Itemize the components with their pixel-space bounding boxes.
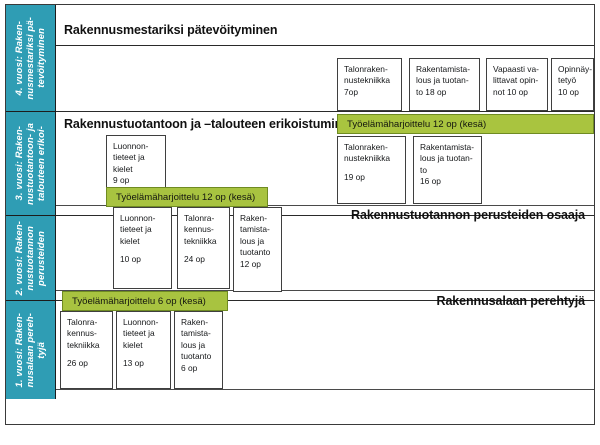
- year-column-1-line-3: tyjä: [36, 342, 47, 359]
- row-separator-1: [56, 45, 594, 46]
- course-box[interactable]: Vapaasti va- littavat opin- not 10 op: [486, 58, 548, 111]
- year-column-2: 2. vuosi: Raken- nustuotannon perusteide…: [6, 216, 56, 301]
- course-box[interactable]: Luonnon- tieteet ja kielet 13 op: [116, 311, 171, 389]
- year-column-2-line-1: 2. vuosi: Raken-: [14, 221, 25, 295]
- internship-bar-year4[interactable]: Työelämäharjoittelu 12 op (kesä): [337, 114, 594, 134]
- course-box[interactable]: Luonnon- tieteet ja kielet 9 op: [106, 135, 166, 193]
- year-column-4-line-1: 4. vuosi: Raken-: [14, 21, 25, 95]
- year-column-3-line-3: talouteen erikoi-: [36, 126, 47, 201]
- diagram-canvas: 4. vuosi: Raken- nusmestariksi pä- tevöi…: [0, 0, 600, 445]
- year-column-4: 4. vuosi: Raken- nusmestariksi pä- tevöi…: [6, 5, 56, 112]
- year-column-1-line-1: 1. vuosi: Raken-: [14, 313, 25, 387]
- section-heading-year1: Rakennusalaan perehtyjä: [330, 291, 594, 311]
- course-box[interactable]: Raken- tamista- lous ja tuotanto 12 op: [233, 207, 282, 292]
- row-separator-2: [56, 111, 594, 112]
- course-box[interactable]: Talonra- kennus- tekniikka 24 op: [177, 207, 230, 289]
- course-box[interactable]: Luonnon- tieteet ja kielet 10 op: [113, 207, 172, 289]
- course-box[interactable]: Talonraken- nustekniikka 19 op: [337, 136, 406, 204]
- year-column-2-line-2: nustuotannon: [25, 226, 36, 291]
- course-box[interactable]: Talonra- kennus- tekniikka 26 op: [60, 311, 113, 389]
- year-column-2-line-3: perusteiden: [36, 231, 47, 286]
- year-column-3-line-1: 3. vuosi: Raken-: [14, 126, 25, 200]
- course-box[interactable]: Rakentamista- lous ja tuotan- to 16 op: [413, 136, 482, 204]
- year-column-3: 3. vuosi: Raken- nustuotantoon- ja talou…: [6, 112, 56, 216]
- section-heading-year3: Rakennustuotantoon ja –talouteen erikois…: [57, 113, 347, 135]
- year-column-1-line-2: nusalaan pereh-: [25, 313, 36, 387]
- year-column-1: 1. vuosi: Raken- nusalaan pereh- tyjä: [6, 301, 56, 399]
- course-box[interactable]: Raken- tamista- lous ja tuotanto 6 op: [174, 311, 223, 389]
- course-box[interactable]: Rakentamista- lous ja tuotan- to 18 op: [409, 58, 480, 111]
- internship-bar-year3[interactable]: Työelämäharjoittelu 12 op (kesä): [106, 187, 268, 207]
- year-column-4-line-2: nusmestariksi pä-: [25, 17, 36, 99]
- internship-bar-year2[interactable]: Työelämäharjoittelu 6 op (kesä): [62, 291, 228, 311]
- course-box[interactable]: Opinnäy- tetyö 10 op: [551, 58, 594, 111]
- section-heading-year4: Rakennusmestariksi pätevöityminen: [57, 17, 457, 43]
- course-box[interactable]: Talonraken- nustekniikka 7op: [337, 58, 402, 111]
- section-heading-year2: Rakennustuotannon perusteiden osaaja: [300, 205, 594, 225]
- year-column-4-line-3: tevöityminen: [36, 28, 47, 88]
- row-separator-7: [56, 389, 594, 390]
- year-column-3-line-2: nustuotantoon- ja: [25, 123, 36, 205]
